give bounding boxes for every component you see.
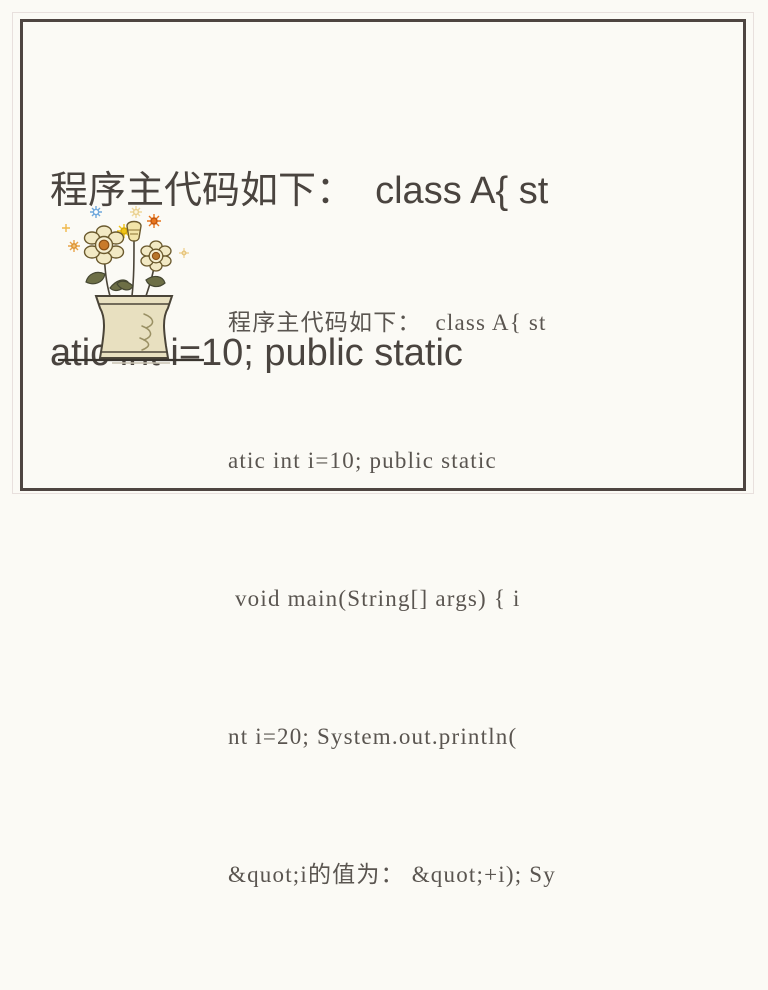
vase-icon	[96, 296, 172, 358]
body-text-line-2: atic int i=10; public static	[228, 438, 698, 484]
body-text-line-5: &quot;i的值为： &quot;+i); Sy	[228, 852, 698, 898]
body-text-line-1: 程序主代码如下： class A{ st	[228, 300, 698, 346]
body-text-line-4: nt i=20; System.out.println(	[228, 714, 698, 760]
potted-flowers-illustration	[52, 196, 212, 368]
potted-flowers-icon	[52, 196, 212, 368]
body-text-block: 程序主代码如下： class A{ st atic int i=10; publ…	[228, 208, 698, 990]
sparkle-orange-small-icon	[68, 240, 80, 252]
flower-bud-icon	[127, 222, 141, 242]
sparkle-tiny-left-icon	[62, 224, 70, 232]
flower-right-icon	[141, 241, 171, 271]
sparkle-orange-icon	[147, 214, 161, 228]
page-root: 程序主代码如下： class A{ st atic int i=10; publ…	[0, 0, 768, 510]
flower-leaves	[86, 272, 165, 290]
sparkle-pale-icon	[130, 206, 142, 218]
body-text-line-3: void main(String[] args) { i	[228, 576, 698, 622]
sparkle-tiny-icon	[179, 248, 189, 258]
flower-left-icon	[85, 226, 124, 264]
sparkle-blue-icon	[90, 206, 102, 218]
